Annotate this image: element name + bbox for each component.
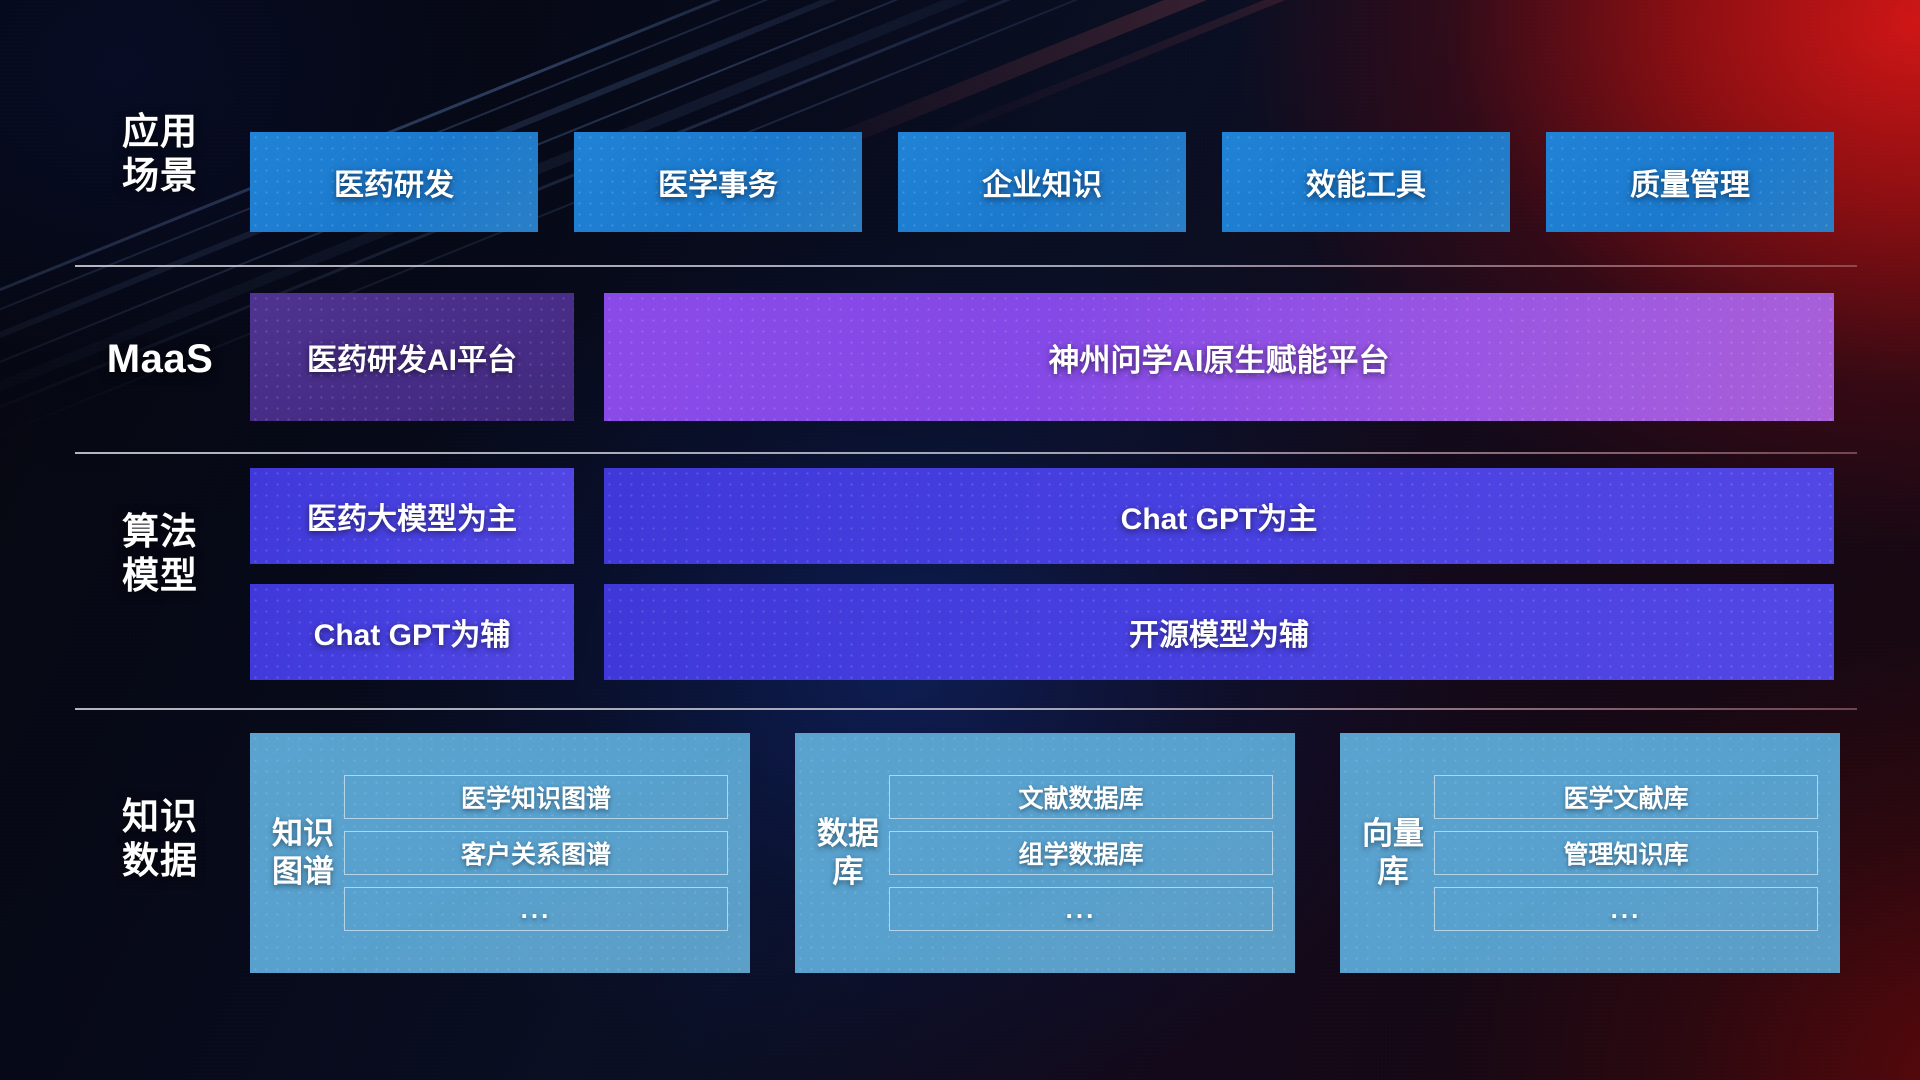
knowledge-group-vector-label: 向量库 [1362, 815, 1424, 891]
divider-algorithm-knowledge [75, 708, 1857, 710]
row-label-algorithm-line1: 算法 [75, 510, 245, 554]
app-box-label: 企业知识 [982, 160, 1102, 204]
diagram-canvas: 应用 场景 医药研发 医学事务 企业知识 效能工具 质量管理 [0, 0, 1920, 1080]
maas-box-pharma-ai-platform[interactable]: 医药研发AI平台 [250, 293, 574, 421]
app-box-label: 医学事务 [658, 160, 778, 204]
knowledge-item-literature-db[interactable]: 文献数据库 [889, 775, 1273, 819]
app-box-quality-management[interactable]: 质量管理 [1546, 132, 1834, 232]
row-label-application-line2: 场景 [75, 154, 245, 198]
maas-box-shenzhou-wenxue-platform[interactable]: 神州问学AI原生赋能平台 [604, 293, 1834, 421]
knowledge-item-omics-db[interactable]: 组学数据库 [889, 831, 1273, 875]
algo-box-chatgpt-secondary[interactable]: Chat GPT为辅 [250, 584, 574, 680]
app-box-medicine-rd[interactable]: 医药研发 [250, 132, 538, 232]
algo-box-label: Chat GPT为辅 [314, 610, 511, 654]
knowledge-group-database-label: 数据库 [817, 815, 879, 891]
knowledge-group-graph-label: 知识图谱 [272, 815, 334, 891]
maas-box-label: 神州问学AI原生赋能平台 [1049, 335, 1390, 380]
knowledge-group-database[interactable]: 数据库 文献数据库 组学数据库 ... [795, 733, 1295, 973]
row-label-algorithm-line2: 模型 [75, 554, 245, 598]
row-label-maas: MaaS [75, 336, 245, 383]
row-label-application: 应用 场景 [75, 110, 245, 197]
knowledge-item-medical-literature[interactable]: 医学文献库 [1434, 775, 1818, 819]
app-box-label: 医药研发 [334, 160, 454, 204]
algo-box-opensource-secondary[interactable]: 开源模型为辅 [604, 584, 1834, 680]
row-label-knowledge-line2: 数据 [75, 839, 245, 883]
knowledge-group-vector-items: 医学文献库 管理知识库 ... [1424, 759, 1840, 947]
algo-box-label: 开源模型为辅 [1129, 610, 1309, 654]
app-box-efficiency-tools[interactable]: 效能工具 [1222, 132, 1510, 232]
knowledge-item-more[interactable]: ... [344, 887, 728, 931]
knowledge-item-more[interactable]: ... [889, 887, 1273, 931]
row-label-algorithm: 算法 模型 [75, 510, 245, 597]
row-label-knowledge-line1: 知识 [75, 795, 245, 839]
knowledge-item-management-knowledge[interactable]: 管理知识库 [1434, 831, 1818, 875]
knowledge-group-graph-items: 医学知识图谱 客户关系图谱 ... [334, 759, 750, 947]
app-box-label: 效能工具 [1306, 160, 1426, 204]
app-box-label: 质量管理 [1630, 160, 1750, 204]
maas-box-label: 医药研发AI平台 [307, 335, 517, 379]
knowledge-group-database-items: 文献数据库 组学数据库 ... [879, 759, 1295, 947]
algo-box-label: 医药大模型为主 [307, 494, 517, 538]
knowledge-group-graph[interactable]: 知识图谱 医学知识图谱 客户关系图谱 ... [250, 733, 750, 973]
algo-box-label: Chat GPT为主 [1121, 494, 1318, 538]
row-label-application-line1: 应用 [75, 110, 245, 154]
knowledge-item-medical-graph[interactable]: 医学知识图谱 [344, 775, 728, 819]
knowledge-group-vector[interactable]: 向量库 医学文献库 管理知识库 ... [1340, 733, 1840, 973]
row-label-knowledge: 知识 数据 [75, 795, 245, 882]
app-box-enterprise-knowledge[interactable]: 企业知识 [898, 132, 1186, 232]
algo-box-chatgpt-primary[interactable]: Chat GPT为主 [604, 468, 1834, 564]
divider-application-maas [75, 265, 1857, 267]
knowledge-item-more[interactable]: ... [1434, 887, 1818, 931]
row-label-maas-text: MaaS [75, 336, 245, 383]
algo-box-pharma-llm-primary[interactable]: 医药大模型为主 [250, 468, 574, 564]
divider-maas-algorithm [75, 452, 1857, 454]
knowledge-item-customer-graph[interactable]: 客户关系图谱 [344, 831, 728, 875]
app-box-medical-affairs[interactable]: 医学事务 [574, 132, 862, 232]
